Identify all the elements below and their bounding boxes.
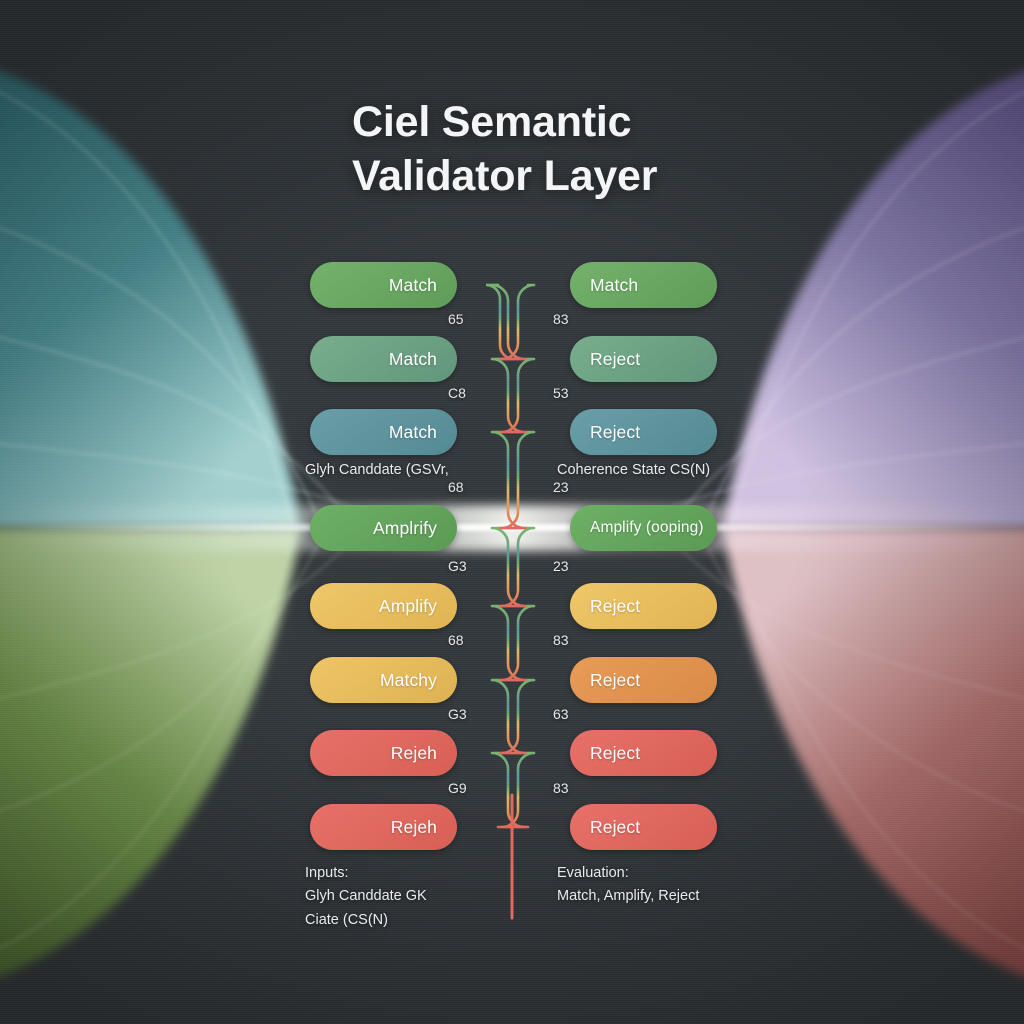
link-number-left-7: G9 <box>448 780 467 796</box>
link-number-left-6: G3 <box>448 706 467 722</box>
pill-label: Match <box>389 422 437 443</box>
link-number-right-4: 23 <box>553 558 569 574</box>
page-title: Ciel Semantic Validator Layer <box>352 96 912 204</box>
pill-label: Reject <box>590 422 640 443</box>
link-number-right-3: 23 <box>553 479 569 495</box>
pill-right-2[interactable]: Reject <box>570 336 717 382</box>
link-number-left-5: 68 <box>448 632 464 648</box>
pill-right-7[interactable]: Reject <box>570 730 717 776</box>
pill-left-5[interactable]: Amplify <box>310 583 457 629</box>
link-number-left-1: 65 <box>448 311 464 327</box>
pill-right-5[interactable]: Reject <box>570 583 717 629</box>
left-column-caption: Glyh Canddate (GSVr, <box>305 462 449 478</box>
link-number-right-7: 83 <box>553 780 569 796</box>
pill-label: Amplify <box>379 596 437 617</box>
pill-label: Reject <box>590 743 640 764</box>
pill-label: Match <box>389 275 437 296</box>
link-number-left-3: 68 <box>448 479 464 495</box>
link-number-left-2: C8 <box>448 385 466 401</box>
pill-label: Reject <box>590 349 640 370</box>
pill-left-7[interactable]: Rejeh <box>310 730 457 776</box>
pill-label: Match <box>389 349 437 370</box>
link-number-right-1: 83 <box>553 311 569 327</box>
inputs-caption: Inputs: Glyh Canddate GK Ciate (CS(N) <box>305 862 535 932</box>
pill-label: Reject <box>590 817 640 838</box>
pill-label: Amplrify <box>373 518 437 539</box>
diagram-canvas: Ciel Semantic Validator Layer <box>0 0 1024 1024</box>
pill-left-3[interactable]: Match <box>310 409 457 455</box>
pill-right-4[interactable]: Amplify (ooping) <box>570 505 717 551</box>
pill-right-6[interactable]: Reject <box>570 657 717 703</box>
pill-label: Amplify (ooping) <box>590 519 704 537</box>
pill-left-8[interactable]: Rejeh <box>310 804 457 850</box>
pill-right-8[interactable]: Reject <box>570 804 717 850</box>
pill-left-6[interactable]: Matchy <box>310 657 457 703</box>
pill-label: Match <box>590 275 638 296</box>
pill-left-1[interactable]: Match <box>310 262 457 308</box>
link-number-right-6: 63 <box>553 706 569 722</box>
pill-label: Matchy <box>380 670 437 691</box>
link-number-left-4: G3 <box>448 558 467 574</box>
pill-right-1[interactable]: Match <box>570 262 717 308</box>
evaluation-caption: Evaluation: Match, Amplify, Reject <box>557 862 807 909</box>
pill-left-2[interactable]: Match <box>310 336 457 382</box>
right-column-caption: Coherence State CS(N) <box>557 462 710 478</box>
pill-left-4[interactable]: Amplrify <box>310 505 457 551</box>
pill-right-3[interactable]: Reject <box>570 409 717 455</box>
pill-label: Reject <box>590 596 640 617</box>
link-number-right-2: 53 <box>553 385 569 401</box>
pill-label: Rejeh <box>391 743 437 764</box>
pill-label: Reject <box>590 670 640 691</box>
pill-label: Rejeh <box>391 817 437 838</box>
link-number-right-5: 83 <box>553 632 569 648</box>
